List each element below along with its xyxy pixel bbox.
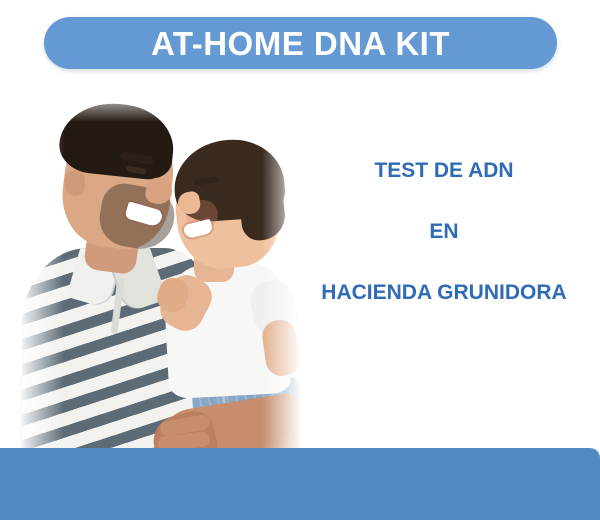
photo-canvas [8, 82, 308, 460]
page-title: AT-HOME DNA KIT [151, 27, 450, 60]
header-banner: AT-HOME DNA KIT [44, 17, 557, 69]
footer-bar [0, 448, 600, 520]
poster-canvas: AT-HOME DNA KIT [0, 0, 600, 520]
headline-line-1: TEST DE ADN [296, 160, 592, 181]
headline-block: TEST DE ADN EN HACIENDA GRUNIDORA [296, 160, 592, 303]
man-ear [65, 170, 85, 196]
headline-line-2: EN [296, 221, 592, 242]
headline-line-3: HACIENDA GRUNIDORA [296, 282, 592, 303]
hero-photo [8, 82, 308, 460]
